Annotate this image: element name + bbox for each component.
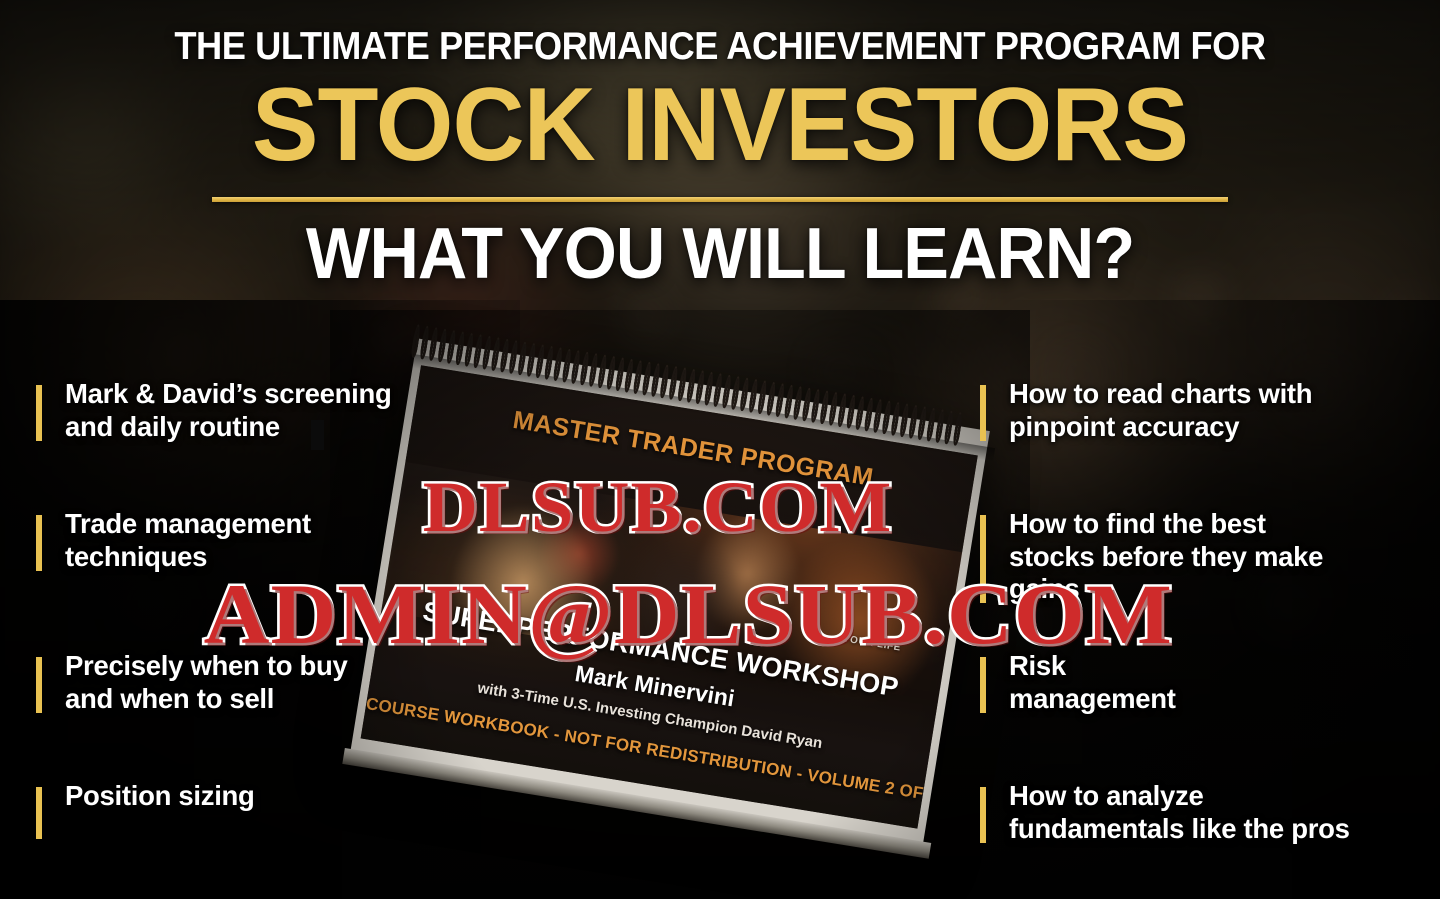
bullet-bar-icon — [980, 787, 986, 843]
list-item: Risk management — [980, 650, 1426, 780]
watermark-email: ADMIN@DLSUB.COM — [204, 564, 1173, 664]
list-item-label: Mark & David’s screening and daily routi… — [65, 378, 506, 443]
subheading: WHAT YOU WILL LEARN? — [36, 218, 1404, 290]
gold-divider — [212, 197, 1228, 202]
list-item: Position sizing — [36, 780, 506, 870]
list-item-label: How to read charts with pinpoint accurac… — [1009, 378, 1426, 443]
list-item: Precisely when to buy and when to sell — [36, 650, 506, 780]
kicker-text: THE ULTIMATE PERFORMANCE ACHIEVEMENT PRO… — [50, 27, 1389, 66]
bullet-bar-icon — [36, 515, 42, 571]
watermark-site: DLSUB.COM — [423, 466, 893, 549]
bullet-bar-icon — [980, 385, 986, 441]
bullet-bar-icon — [980, 657, 986, 713]
list-item-label: Position sizing — [65, 780, 506, 813]
page-title: STOCK INVESTORS — [29, 73, 1411, 177]
text-occlusion-artifact — [311, 420, 324, 450]
header-block: THE ULTIMATE PERFORMANCE ACHIEVEMENT PRO… — [0, 0, 1440, 290]
list-item-label: How to analyze fundamentals like the pro… — [1009, 780, 1426, 845]
list-item: How to analyze fundamentals like the pro… — [980, 780, 1426, 870]
bullet-bar-icon — [36, 787, 42, 839]
promo-banner: THE ULTIMATE PERFORMANCE ACHIEVEMENT PRO… — [0, 0, 1440, 899]
bullet-bar-icon — [36, 385, 42, 441]
bullet-bar-icon — [36, 657, 42, 713]
list-item: How to read charts with pinpoint accurac… — [980, 378, 1426, 508]
